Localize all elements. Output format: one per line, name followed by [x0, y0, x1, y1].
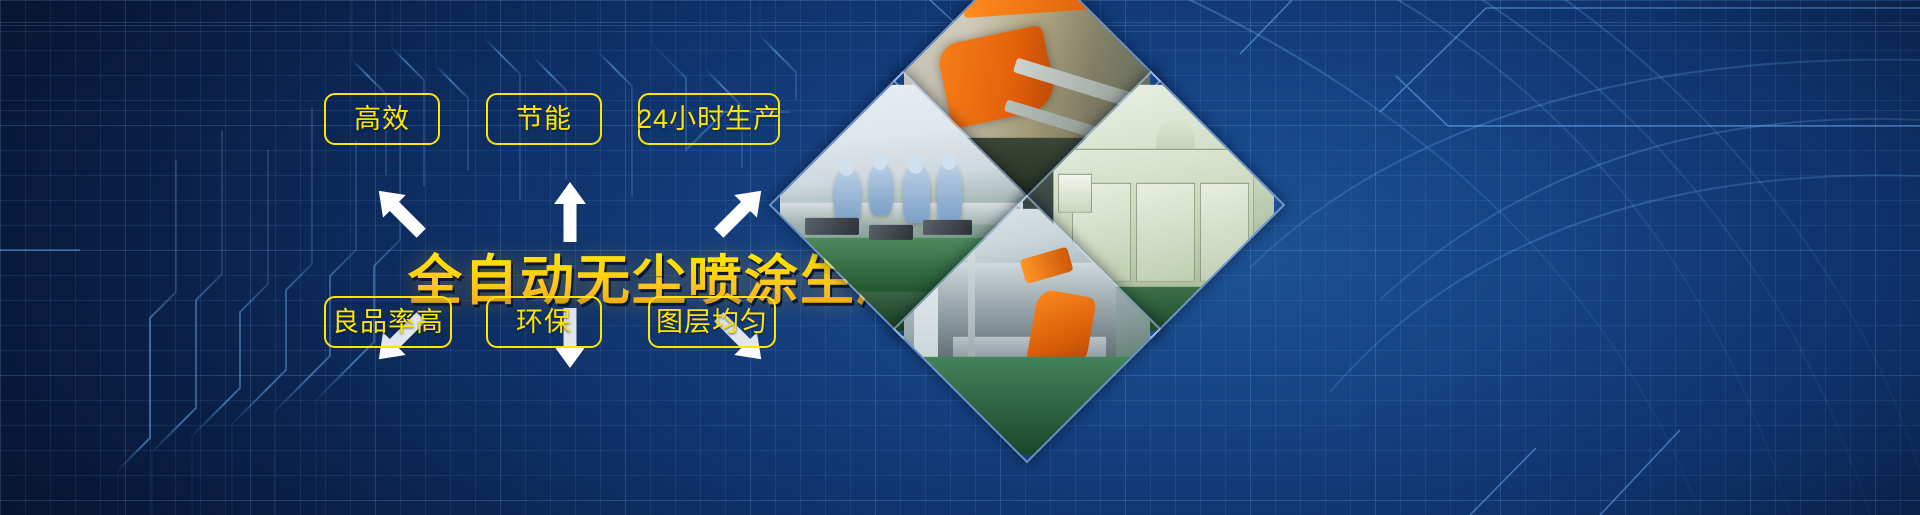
arrow-up-right — [707, 179, 772, 244]
tag-label: 图层均匀 — [656, 309, 768, 336]
tag-label: 高效 — [354, 106, 410, 133]
tag-gaoxiao[interactable]: 高效 — [324, 93, 440, 145]
tag-label: 节能 — [516, 106, 572, 133]
oven-door — [1136, 183, 1195, 281]
parts-tray — [805, 218, 859, 235]
worker-cap — [873, 154, 887, 170]
tag-high-yield[interactable]: 良品率高 — [324, 296, 452, 348]
parts-tray — [923, 220, 972, 235]
photo-collage — [846, 36, 1208, 398]
worker-cap — [839, 159, 854, 176]
promo-banner: 高效 节能 24小时生产 全自动无尘喷涂生产线 良品率高 环保 图层均匀 — [0, 0, 1920, 515]
tag-jieneng[interactable]: 节能 — [486, 93, 602, 145]
worker-cap — [942, 154, 956, 170]
worker — [834, 168, 861, 222]
tag-24h-production[interactable]: 24小时生产 — [638, 93, 780, 145]
tag-label: 良品率高 — [332, 309, 444, 336]
tag-eco[interactable]: 环保 — [486, 296, 602, 348]
arrow-up-left — [367, 179, 432, 244]
worker — [869, 164, 894, 216]
tag-even-coating[interactable]: 图层均匀 — [648, 296, 776, 348]
worker — [937, 164, 962, 223]
arrow-up — [554, 182, 586, 242]
worker — [903, 166, 930, 223]
tag-label: 24小时生产 — [637, 106, 781, 133]
worker-cap — [908, 156, 923, 173]
tag-label: 环保 — [516, 309, 572, 336]
control-panel — [1058, 173, 1092, 212]
parts-tray — [869, 225, 913, 240]
